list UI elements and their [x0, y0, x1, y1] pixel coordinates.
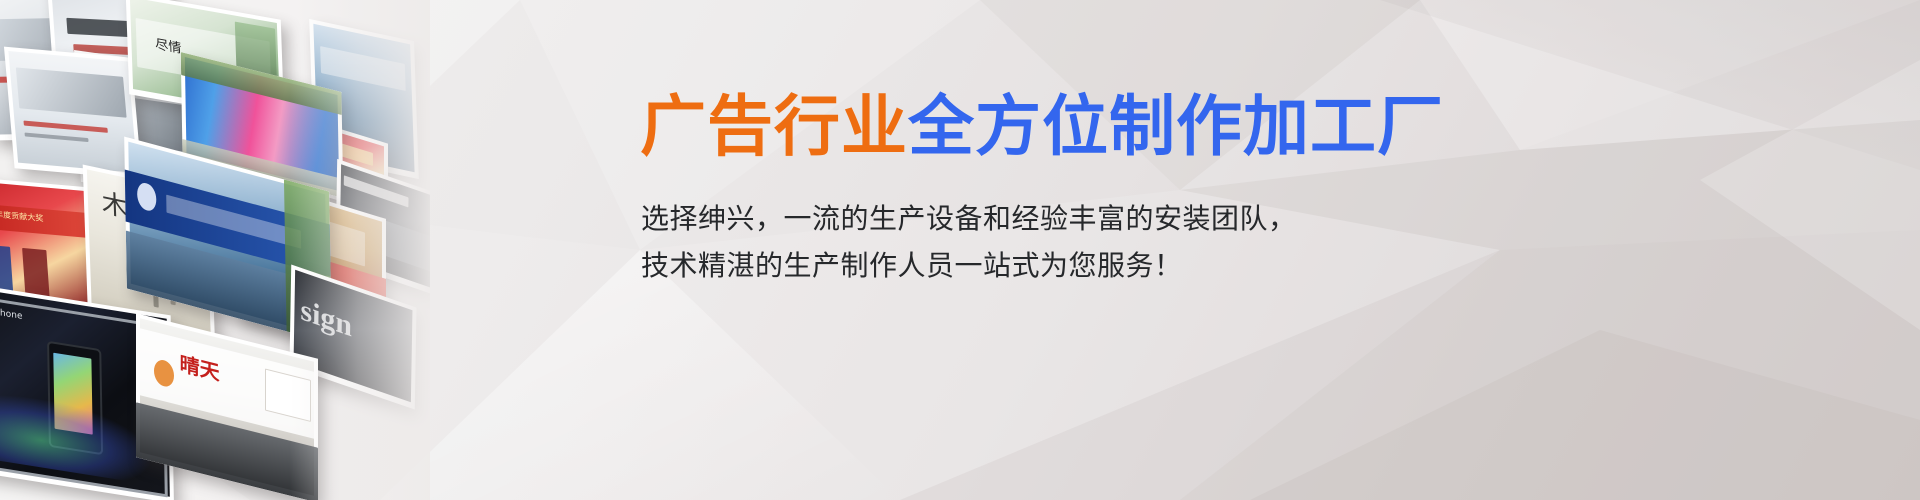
headline-orange-text: 广告行业 [640, 88, 908, 165]
photo-brochure-stack [4, 47, 142, 180]
headline-blue-text: 全方位制作加工厂 [908, 88, 1444, 165]
promo-banner: 尽情 公司 年度贡献大奖 木 [0, 0, 1920, 500]
subtitle-line-1: 选择绅兴，一流的生产设备和经验丰富的安装团队， [641, 205, 1297, 233]
page-title: 广告行业全方位制作加工厂 [640, 94, 1444, 160]
collage-right-fade [290, 0, 430, 500]
advertising-works-photo-collage: 尽情 公司 年度贡献大奖 木 [0, 0, 430, 500]
subtitle-line-2: 技术精湛的生产制作人员一站式为您服务！ [641, 252, 1183, 280]
